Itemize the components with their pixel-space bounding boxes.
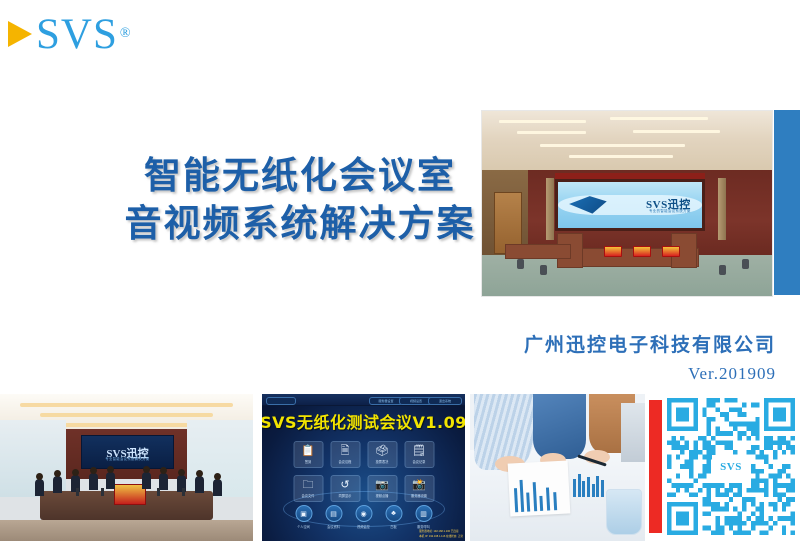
water-glass — [606, 489, 642, 535]
chair — [540, 265, 547, 275]
attendee — [53, 476, 62, 493]
attendee — [89, 473, 98, 490]
chair — [719, 265, 726, 275]
camera-icon: 📷 — [375, 480, 389, 491]
notes-icon: 🗒 — [412, 446, 426, 457]
app-status-bar: 服务器地址: 192.168.1.100 已连接 本机 IP: 192.168.… — [419, 529, 463, 538]
attendee — [159, 473, 168, 490]
decorative-blue-bar — [774, 110, 800, 295]
vote-icon: 🗳 — [375, 446, 389, 457]
tile-agenda[interactable]: 🗎 会议议程 — [330, 441, 360, 468]
qr-center-label: SVS — [720, 461, 742, 473]
page-title: 智能无纸化会议室 音视频系统解决方案 — [110, 152, 490, 248]
logo-wordmark: SVS — [36, 13, 118, 56]
monitor-icon: ◉ — [355, 505, 372, 522]
capture-icon: 📸 — [412, 480, 426, 491]
server-settings-button[interactable]: 服务器设置 — [369, 397, 403, 405]
side-desk — [505, 244, 571, 259]
qr-center-logo: SVS — [712, 455, 750, 479]
play-triangle-icon — [8, 21, 32, 47]
tile-minutes[interactable]: 🗒 会议记录 — [404, 441, 434, 468]
bottom-image-strip: SVS迅控 专业智能会议系统解决方案 — [0, 394, 800, 541]
qr-code[interactable]: SVS — [667, 398, 795, 535]
topbar-left-pill[interactable] — [266, 397, 296, 405]
app-top-bar: 服务器设置 视频设置 退出系统 — [262, 394, 465, 406]
chair — [742, 259, 749, 269]
service-call-icon: ▥ — [415, 505, 432, 522]
folder-icon: 🗀 — [303, 480, 314, 491]
dock-item-materials[interactable]: ▤ 会议资料 — [325, 505, 342, 529]
dock-label: 会议资料 — [327, 524, 340, 529]
microphone — [182, 488, 185, 496]
whiteboard-icon: ♣ — [385, 505, 402, 522]
slide-canvas: SVS ® 智能无纸化会议室 音视频系统解决方案 SVS迅控 专业的智能会议系统… — [0, 0, 800, 541]
microphone — [76, 488, 79, 496]
chair — [517, 259, 524, 269]
attendee — [213, 479, 222, 496]
brand-logo: SVS ® — [8, 12, 131, 56]
chart-paper — [507, 460, 569, 516]
conference-room-render-photo: SVS迅控 专业的智能会议系统方案 — [481, 110, 773, 297]
dock-label: 白板 — [390, 524, 396, 529]
status-line-2: 本机 IP: 192.168.1.116 在线状态: 正常 — [419, 534, 463, 538]
tile-label: 签到 — [305, 459, 311, 464]
pillar-right — [718, 178, 726, 241]
tile-label: 会议记录 — [413, 459, 426, 464]
tile-label: 会议议程 — [339, 459, 352, 464]
attendee — [142, 472, 151, 489]
status-line-1: 服务器地址: 192.168.1.100 已连接 — [419, 529, 463, 533]
exit-system-button[interactable]: 退出系统 — [428, 397, 462, 405]
dock-item-service-call[interactable]: ▥ 服务呼叫 — [415, 505, 432, 529]
microphone — [101, 488, 104, 496]
attendee — [35, 479, 44, 496]
dock-label: 视频监控 — [357, 524, 370, 529]
desk-device-3 — [662, 246, 680, 257]
dock-item-whiteboard[interactable]: ♣ 白板 — [385, 505, 402, 529]
registered-trademark-icon: ® — [120, 26, 131, 42]
dock-item-monitor[interactable]: ◉ 视频监控 — [355, 505, 372, 529]
ceiling — [482, 111, 772, 174]
version-label: Ver.201909 — [688, 364, 776, 384]
paperless-conference-photo: SVS迅控 专业智能会议系统解决方案 — [0, 394, 253, 541]
person-denim-shirt — [533, 394, 586, 459]
tile-vote[interactable]: 🗳 投票表决 — [367, 441, 397, 468]
tile-label: 投票表决 — [376, 459, 389, 464]
tile-sign-in[interactable]: 📋 签到 — [293, 441, 323, 468]
microphone — [157, 488, 160, 496]
desk-device-2 — [633, 246, 651, 257]
person-light-sleeve — [621, 403, 646, 462]
red-accent-bar — [649, 400, 662, 533]
attendee — [195, 476, 204, 493]
desk-device-1 — [604, 246, 622, 257]
refresh-icon: ↺ — [340, 480, 349, 491]
led-subtitle: 专业智能会议系统解决方案 — [105, 456, 149, 461]
title-line-2: 音视频系统解决方案 — [110, 200, 490, 248]
attendee — [106, 472, 115, 489]
meeting-people-charts-photo — [470, 394, 645, 541]
user-space-icon: ▣ — [295, 505, 312, 522]
company-name: 广州迅控电子科技有限公司 — [524, 330, 776, 357]
led-display: SVS迅控 专业的智能会议系统方案 — [555, 179, 706, 231]
clipboard-icon: 📋 — [301, 446, 315, 457]
qr-code-block: SVS — [645, 394, 800, 541]
screen-subtitle-text: 专业的智能会议系统方案 — [649, 208, 691, 213]
led-display: SVS迅控 专业智能会议系统解决方案 — [81, 435, 174, 469]
files-icon: ▤ — [325, 505, 342, 522]
pillar-left — [546, 178, 554, 241]
software-ui-screenshot: 服务器设置 视频设置 退出系统 SVS无纸化测试会议V1.09 📋 签到 🗎 会… — [262, 394, 465, 541]
dock-label: 个人空间 — [297, 524, 310, 529]
document-icon: 🗎 — [341, 446, 350, 457]
title-line-1: 智能无纸化会议室 — [110, 152, 490, 200]
floor — [0, 520, 253, 541]
app-dock: ▣ 个人空间 ▤ 会议资料 ◉ 视频监控 ♣ 白板 ▥ 服务呼叫 — [295, 505, 432, 529]
app-title: SVS无纸化测试会议V1.09 — [262, 409, 465, 433]
dock-item-personal-space[interactable]: ▣ 个人空间 — [295, 505, 312, 529]
